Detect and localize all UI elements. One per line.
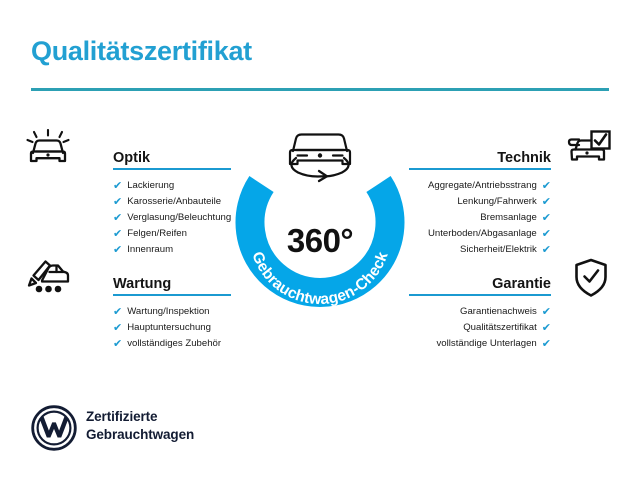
- certificate-page: Qualitätszertifikat: [0, 0, 640, 480]
- checklist-item: ✔Qualitätszertifikat: [409, 320, 609, 336]
- checklist-item-label: Lackierung: [127, 178, 174, 194]
- checklist-item: ✔Lackierung: [31, 178, 231, 194]
- checklist-item-label: Garantienachweis: [460, 304, 537, 320]
- volkswagen-logo: [31, 405, 77, 451]
- checklist-technik: ✔Aggregate/Antriebsstrang✔Lenkung/Fahrwe…: [409, 178, 609, 258]
- checklist-item: ✔Lenkung/Fahrwerk: [409, 194, 609, 210]
- section-garantie: Garantie ✔Garantienachweis✔Qualitätszert…: [409, 266, 609, 352]
- section-optik: Optik ✔Lackierung✔Karosserie/Anbauteile✔…: [31, 140, 231, 258]
- checklist-item-label: Hauptuntersuchung: [127, 320, 211, 336]
- section-title: Technik: [497, 150, 551, 166]
- section-technik: Technik ✔Aggregate/Antriebsstrang✔Lenkun…: [409, 140, 609, 258]
- check-icon: ✔: [113, 323, 122, 334]
- checklist-item-label: Qualitätszertifikat: [463, 320, 537, 336]
- check-icon: ✔: [113, 213, 122, 224]
- section-header: Optik: [31, 140, 231, 170]
- check-icon: ✔: [113, 229, 122, 240]
- checklist-item-label: Wartung/Inspektion: [127, 304, 209, 320]
- check-icon: ✔: [113, 339, 122, 350]
- check-icon: ✔: [113, 307, 122, 318]
- checklist-item-label: Verglasung/Beleuchtung: [127, 210, 231, 226]
- check-icon: ✔: [542, 213, 551, 224]
- check-icon: ✔: [542, 339, 551, 350]
- checklist-item: ✔Unterboden/Abgasanlage: [409, 226, 609, 242]
- section-divider: [409, 294, 551, 296]
- 360-gebrauchtwagen-check-badge: Gebrauchtwagen-Check 360°: [228, 118, 412, 310]
- check-icon: ✔: [542, 181, 551, 192]
- check-icon: ✔: [113, 197, 122, 208]
- footer-text: Zertifizierte Gebrauchtwagen: [86, 408, 194, 444]
- checklist-item: ✔vollständiges Zubehör: [31, 336, 231, 352]
- checklist-item-label: Lenkung/Fahrwerk: [457, 194, 536, 210]
- page-title: Qualitätszertifikat: [31, 36, 252, 67]
- checklist-item-label: vollständige Unterlagen: [437, 336, 537, 352]
- checklist-optik: ✔Lackierung✔Karosserie/Anbauteile✔Vergla…: [31, 178, 231, 258]
- checklist-garantie: ✔Garantienachweis✔Qualitätszertifikat✔vo…: [409, 304, 609, 352]
- section-header: Technik: [409, 140, 609, 170]
- footer-line-2: Gebrauchtwagen: [86, 426, 194, 444]
- checklist-wartung: ✔Wartung/Inspektion✔Hauptuntersuchung✔vo…: [31, 304, 231, 352]
- checklist-item-label: Karosserie/Anbauteile: [127, 194, 221, 210]
- section-header: Garantie: [409, 266, 609, 296]
- checklist-item-label: Aggregate/Antriebsstrang: [428, 178, 537, 194]
- checklist-item: ✔Bremsanlage: [409, 210, 609, 226]
- section-title: Garantie: [492, 276, 551, 292]
- check-icon: ✔: [113, 245, 122, 256]
- checklist-item: ✔Felgen/Reifen: [31, 226, 231, 242]
- checklist-item: ✔Innenraum: [31, 242, 231, 258]
- checklist-item-label: Felgen/Reifen: [127, 226, 187, 242]
- section-title: Wartung: [113, 276, 171, 292]
- checklist-item: ✔Hauptuntersuchung: [31, 320, 231, 336]
- checklist-item-label: Unterboden/Abgasanlage: [428, 226, 537, 242]
- checklist-item: ✔Wartung/Inspektion: [31, 304, 231, 320]
- checklist-item: ✔Karosserie/Anbauteile: [31, 194, 231, 210]
- footer-line-1: Zertifizierte: [86, 408, 194, 426]
- checklist-item-label: Innenraum: [127, 242, 173, 258]
- section-title: Optik: [113, 150, 150, 166]
- section-divider: [409, 168, 551, 170]
- check-icon: ✔: [113, 181, 122, 192]
- checklist-item: ✔vollständige Unterlagen: [409, 336, 609, 352]
- check-icon: ✔: [542, 323, 551, 334]
- section-header: Wartung: [31, 266, 231, 296]
- section-divider: [113, 294, 231, 296]
- check-icon: ✔: [542, 307, 551, 318]
- checklist-item-label: Sicherheit/Elektrik: [460, 242, 537, 258]
- checklist-item: ✔Aggregate/Antriebsstrang: [409, 178, 609, 194]
- checklist-item: ✔Sicherheit/Elektrik: [409, 242, 609, 258]
- checklist-item: ✔Garantienachweis: [409, 304, 609, 320]
- header-divider: [31, 88, 609, 91]
- checklist-item: ✔Verglasung/Beleuchtung: [31, 210, 231, 226]
- check-icon: ✔: [542, 197, 551, 208]
- check-icon: ✔: [542, 229, 551, 240]
- check-icon: ✔: [542, 245, 551, 256]
- section-divider: [113, 168, 231, 170]
- section-wartung: Wartung ✔Wartung/Inspektion✔Hauptuntersu…: [31, 266, 231, 352]
- checklist-item-label: vollständiges Zubehör: [127, 336, 221, 352]
- badge-center-label: 360°: [228, 222, 412, 260]
- checklist-item-label: Bremsanlage: [480, 210, 537, 226]
